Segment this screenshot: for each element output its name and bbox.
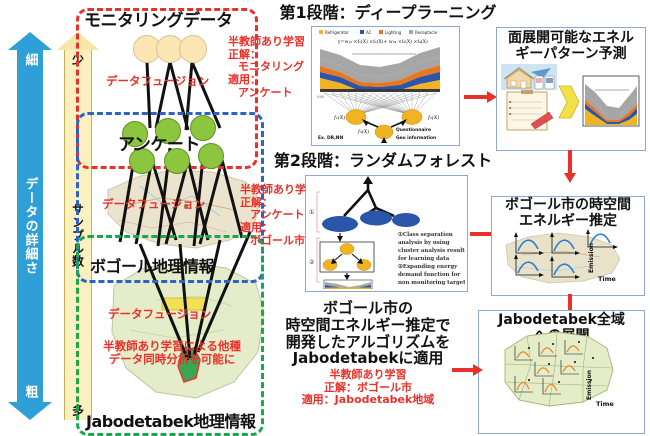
stage2-heading: 第2段階：ランダムフォレスト	[258, 152, 508, 170]
panel2-y-axis-label: Emission	[588, 243, 595, 273]
annotation-1-line1: 半教師あり学習	[228, 36, 305, 49]
svg-text:AC: AC	[366, 30, 372, 35]
stage1-example-label: Ex. DR,NN	[318, 135, 343, 141]
panel3-y-axis-label: Emission	[586, 370, 593, 400]
stage2-marker-2: ②	[309, 259, 315, 266]
panel1-graphic	[497, 62, 643, 134]
deep-learning-diagram: Refrigerator AC Lighting Receptacle y=w₁…	[312, 27, 457, 143]
conclusion-line3: 開発したアルゴリズムを	[262, 334, 474, 351]
panel2-title-line2: エネルギー推定	[492, 214, 644, 230]
panel-jabodetabek-expansion: Jabodetabek全域 への展開 Emission	[478, 310, 645, 434]
panel1-title-line2: ギーパターン予測	[497, 47, 645, 63]
svg-text:Lighting: Lighting	[385, 30, 402, 35]
stage1-input-geo-label: Geo information	[396, 135, 436, 141]
arrow-stage2-to-panel2	[470, 232, 492, 236]
detail-axis-arrowhead	[8, 32, 52, 50]
stage1-diagram-panel: Refrigerator AC Lighting Receptacle y=w₁…	[311, 26, 460, 146]
svg-text:non monitoring target: non monitoring target	[398, 280, 465, 286]
arrow-panel1-to-panel2	[568, 150, 572, 174]
panel2-title: ボゴール市の時空間 エネルギー推定	[492, 197, 644, 229]
detail-axis-bottom-label: 粗	[21, 385, 40, 399]
monitoring-node	[179, 35, 207, 63]
conclusion-block: ボゴール市の 時空間エネルギー推定で 開発したアルゴリズムを Jabodetab…	[262, 300, 474, 407]
data-detail-axis: 細 データの詳細さ 粗	[8, 32, 52, 420]
stage1-formula-text: y=w₁₂ ×f₁(X) ×f₂(X)+ w₃₄ ×f₃(X) ×f₄(X)	[337, 38, 428, 45]
stage2-marker-1: ①	[309, 209, 314, 216]
stage1-heading: 第1段階：ディープラーニング	[258, 4, 518, 22]
svg-text:Refrigerator: Refrigerator	[325, 30, 349, 35]
panel2-graphic: Emission Time	[492, 229, 642, 285]
fusion-label-1: データフュージョン	[106, 75, 209, 88]
svg-text:②Expanding energy: ②Expanding energy	[398, 264, 458, 270]
fusion-label-2: データフュージョン	[102, 198, 205, 211]
detail-axis-body: 細 データの詳細さ 粗	[17, 50, 43, 402]
stage2-diagram-panel: ① ② ①Class separation	[305, 175, 468, 292]
stage1-input-questionnaire-label: Questionnaire	[396, 127, 431, 133]
semi-supervised-note-line2: データ同時分析を可能に	[82, 353, 262, 366]
arrow-stage1-to-panel1	[464, 95, 488, 99]
detail-axis-arrowtail	[8, 402, 52, 420]
svg-text:0:00: 0:00	[317, 95, 324, 99]
conclusion-sub3: 適用：Jabodetabek地域	[262, 394, 474, 407]
panel1-title-line1: 面展開可能なエネル	[497, 31, 645, 47]
fusion-label-3: データフュージョン	[108, 308, 211, 321]
jabodetabek-geo-label: Jabodetabek地理情報	[86, 408, 255, 432]
stage1-node-f2-label: f₂(X)	[427, 114, 439, 121]
panel2-title-line1: ボゴール市の時空間	[492, 198, 644, 214]
annotation-semi-supervised-1: 半教師あり学習 正解： モニタリング 適用： アンケート	[228, 36, 305, 99]
svg-text:①Class separation: ①Class separation	[398, 232, 453, 238]
conclusion-sub1: 半教師あり学習	[262, 369, 474, 382]
arrow-conclusion-to-panel3	[452, 368, 474, 372]
bogor-geo-label: ボゴール地理情報	[90, 253, 214, 277]
panel2-x-axis-label: Time	[598, 275, 616, 283]
annotation-1-line4: 適用：	[228, 74, 305, 87]
panel-energy-pattern-prediction: 面展開可能なエネル ギーパターン予測	[496, 27, 646, 151]
svg-text:cluster analysis result: cluster analysis result	[398, 248, 465, 254]
detail-axis-top-label: 細	[21, 53, 40, 67]
svg-text:Receptacle: Receptacle	[415, 30, 438, 35]
panel1-title: 面展開可能なエネル ギーパターン予測	[497, 28, 645, 62]
detail-axis-middle-label: データの詳細さ	[21, 177, 40, 275]
survey-node	[198, 143, 224, 169]
conclusion-line4: Jabodetabekに適用	[262, 350, 474, 367]
svg-text:for learning data: for learning data	[398, 256, 450, 262]
svg-text:analysis by using: analysis by using	[398, 240, 450, 246]
panel3-graphic: Emission Time	[479, 330, 642, 408]
panel3-title-line1: Jabodetabek全域	[479, 313, 644, 329]
random-forest-diagram: ① ② ①Class separation	[306, 176, 465, 289]
monitoring-data-label: モニタリングデータ	[84, 6, 233, 31]
panel3-x-axis-label: Time	[596, 400, 614, 408]
stage1-node-f1-label: f₁(X)	[333, 114, 345, 121]
stage1-node-f3-label: f₃(X)	[357, 128, 369, 135]
conclusion-line1: ボゴール市の	[262, 300, 474, 317]
stage2-description: ①Class separation analysis by using clus…	[398, 232, 465, 286]
survey-label: アンケート	[118, 130, 200, 155]
svg-text:demand function for: demand function for	[398, 272, 460, 278]
conclusion-line2: 時空間エネルギー推定で	[262, 317, 474, 334]
annotation-1-line5: アンケート	[228, 87, 305, 100]
semi-supervised-note: 半教師あり学習による他種 データ同時分析を可能に	[82, 340, 262, 366]
panel-bogor-spatiotemporal-estimation: ボゴール市の時空間 エネルギー推定 Emission Time	[491, 196, 645, 296]
